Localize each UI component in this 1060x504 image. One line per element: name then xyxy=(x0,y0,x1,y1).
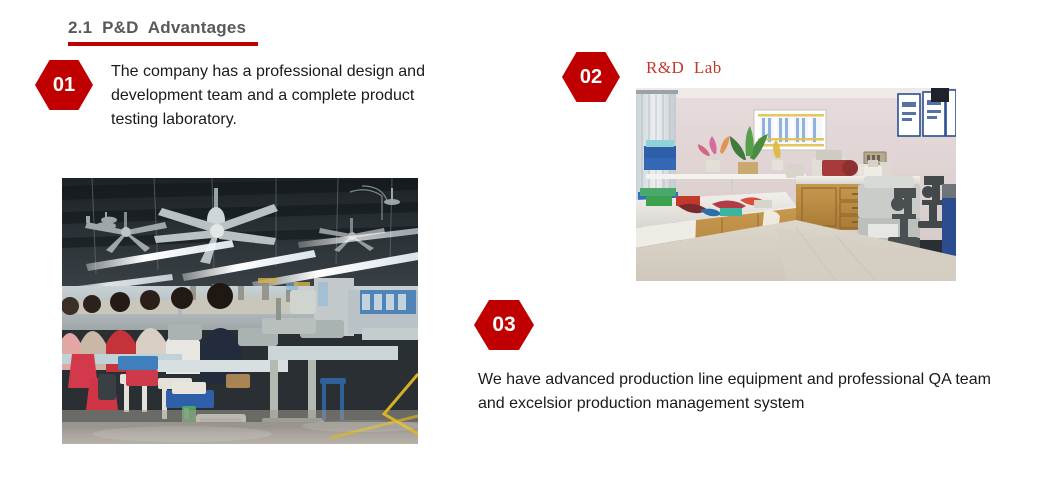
lab-photo-illustration xyxy=(636,88,956,281)
lab-title: R&D Lab xyxy=(646,58,722,78)
badge-02: 02 xyxy=(562,52,620,102)
factory-photo xyxy=(62,178,418,444)
heading-number: 2.1 xyxy=(68,18,92,37)
badge-03: 03 xyxy=(474,300,534,350)
badge-01: 01 xyxy=(35,60,93,110)
heading-label: P&D Advantages xyxy=(102,18,246,37)
lab-photo xyxy=(636,88,956,281)
slide-canvas: 2.1 P&D Advantages 01 The company has a … xyxy=(0,0,1060,504)
heading-underline-rule xyxy=(68,42,258,46)
block-03-text: We have advanced production line equipme… xyxy=(478,368,1018,416)
factory-photo-illustration xyxy=(62,178,418,444)
page-title: 2.1 P&D Advantages xyxy=(68,18,246,38)
block-01-text: The company has a professional design an… xyxy=(111,60,431,132)
